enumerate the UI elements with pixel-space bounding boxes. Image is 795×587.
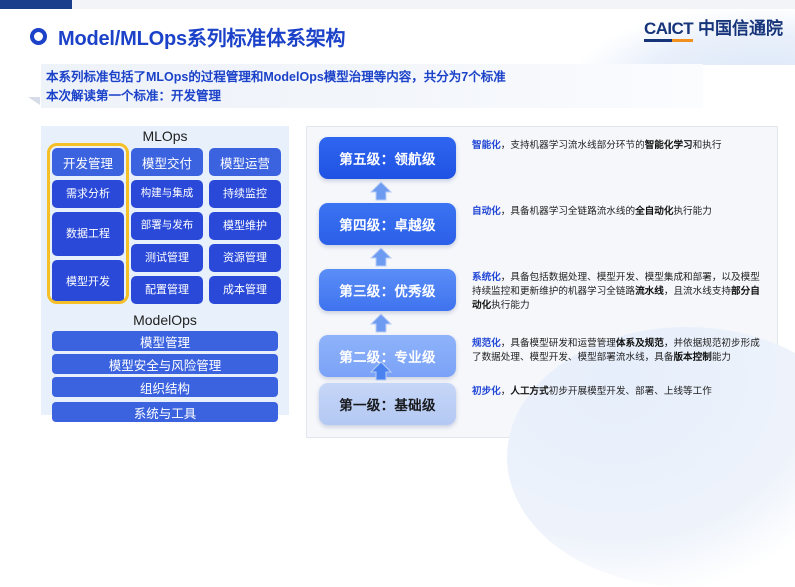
level-4-text-a: ，具备机器学习全链路流水线的 [501, 206, 635, 217]
subtitle-line-2: 本次解读第一个标准：开发管理 [46, 87, 696, 106]
level-2-text-c: 能力 [712, 352, 731, 363]
top-accent-bar [0, 0, 72, 9]
column-items-delivery: 构建与集成 部署与发布 测试管理 配置管理 [131, 180, 203, 304]
maturity-level-4-row: 第四级：卓越级 自动化，具备机器学习全链路流水线的全自动化执行能力 [319, 203, 767, 245]
level-1-description: 初步化，人工方式初步开展模型开发、部署、上线等工作 [472, 383, 767, 425]
item-resource-management[interactable]: 资源管理 [209, 244, 281, 272]
item-continuous-monitoring[interactable]: 持续监控 [209, 180, 281, 208]
arrow-up-icon-3-to-4 [370, 247, 392, 267]
caict-logo-chinese: 中国信通院 [698, 20, 783, 37]
level-5-description: 智能化，支持机器学习流水线部分环节的智能化学习和执行 [472, 137, 767, 179]
subtitle-line-1: 本系列标准包括了MLOps的过程管理和ModelOps模型治理等内容，共分为7个… [46, 68, 696, 87]
maturity-level-3-row: 第三级：优秀级 系统化，具备包括数据处理、模型开发、模型集成和部署，以及模型持续… [319, 269, 767, 313]
level-2-text-a: ，具备模型研发和运营管理 [501, 338, 616, 349]
column-header-development: 开发管理 [52, 148, 124, 176]
level-3-description: 系统化，具备包括数据处理、模型开发、模型集成和部署，以及模型持续监控和更新维护的… [472, 269, 767, 313]
underline-orange-segment [672, 39, 693, 42]
item-model-maintenance[interactable]: 模型维护 [209, 212, 281, 240]
item-cost-management[interactable]: 成本管理 [209, 276, 281, 304]
maturity-level-1-row: 第一级：基础级 初步化，人工方式初步开展模型开发、部署、上线等工作 [319, 383, 767, 425]
level-1-text-bold: 人工方式 [510, 386, 548, 397]
level-2-keyword: 规范化 [472, 338, 501, 349]
modelops-heading: ModelOps [41, 312, 289, 328]
item-deploy-release[interactable]: 部署与发布 [131, 212, 203, 240]
level-5-text-bold: 智能化学习 [645, 140, 693, 151]
item-config-management[interactable]: 配置管理 [131, 276, 203, 304]
mlops-architecture-panel: MLOps ModelOps 开发管理 需求分析 数据工程 模型开发 模型交付 … [41, 126, 289, 438]
level-1-text-a: ， [501, 386, 511, 397]
level-1-text-b: 初步开展模型开发、部署、上线等工作 [549, 386, 712, 397]
level-4-keyword: 自动化 [472, 206, 501, 217]
modelops-row-security-risk[interactable]: 模型安全与风险管理 [52, 354, 278, 374]
level-2-description: 规范化，具备模型研发和运营管理体系及规范，并依据规范初步形成了数据处理、模型开发… [472, 335, 767, 377]
arrow-up-icon-2-to-3 [370, 313, 392, 333]
subtitle-band-tail [28, 97, 40, 105]
caict-wordmark: CAICT [644, 20, 693, 42]
level-3-keyword: 系统化 [472, 272, 501, 283]
item-model-development[interactable]: 模型开发 [52, 260, 124, 304]
mlops-column-development[interactable]: 开发管理 需求分析 数据工程 模型开发 [52, 148, 124, 304]
level-5-box[interactable]: 第五级：领航级 [319, 137, 456, 179]
top-hairline [72, 0, 795, 9]
level-1-keyword: 初步化 [472, 386, 501, 397]
item-build-integration[interactable]: 构建与集成 [131, 180, 203, 208]
level-4-description: 自动化，具备机器学习全链路流水线的全自动化执行能力 [472, 203, 767, 245]
item-test-management[interactable]: 测试管理 [131, 244, 203, 272]
arrow-up-icon-1-to-2 [370, 361, 392, 381]
level-1-box[interactable]: 第一级：基础级 [319, 383, 456, 425]
maturity-levels-panel: 第五级：领航级 智能化，支持机器学习流水线部分环节的智能化学习和执行 第四级：卓… [306, 126, 778, 438]
level-2-text-bold: 体系及规范 [616, 338, 664, 349]
page-title-row: Model/MLOps系列标准体系架构 [30, 22, 345, 51]
column-items-development: 需求分析 数据工程 模型开发 [52, 180, 124, 304]
subtitle-text: 本系列标准包括了MLOps的过程管理和ModelOps模型治理等内容，共分为7个… [46, 68, 696, 107]
maturity-level-5-row: 第五级：领航级 智能化，支持机器学习流水线部分环节的智能化学习和执行 [319, 137, 767, 179]
column-header-operations: 模型运营 [209, 148, 281, 176]
column-header-delivery: 模型交付 [131, 148, 203, 176]
level-4-text-bold: 全自动化 [635, 206, 673, 217]
modelops-row-model-management[interactable]: 模型管理 [52, 331, 278, 351]
column-items-operations: 持续监控 模型维护 资源管理 成本管理 [209, 180, 281, 304]
mlops-column-operations[interactable]: 模型运营 持续监控 模型维护 资源管理 成本管理 [209, 148, 281, 304]
caict-logo-text: CAICT [644, 20, 693, 37]
level-5-text-a: ，支持机器学习流水线部分环节的 [501, 140, 645, 151]
level-5-text-b: 和执行 [693, 140, 722, 151]
level-2-text-bold2: 版本控制 [673, 352, 711, 363]
level-4-text-b: 执行能力 [673, 206, 711, 217]
caict-logo-underline [644, 39, 693, 42]
page-title: Model/MLOps系列标准体系架构 [58, 22, 345, 51]
level-3-text-b: ，且流水线支持 [664, 286, 731, 297]
arrow-up-icon-4-to-5 [370, 181, 392, 201]
mlops-heading: MLOps [41, 128, 289, 144]
level-3-box[interactable]: 第三级：优秀级 [319, 269, 456, 311]
item-data-engineering[interactable]: 数据工程 [52, 212, 124, 256]
underline-blue-segment [644, 39, 672, 42]
caict-logo: CAICT 中国信通院 [644, 20, 783, 42]
level-5-keyword: 智能化 [472, 140, 501, 151]
level-3-text-c: 执行能力 [491, 300, 529, 311]
modelops-row-org-structure[interactable]: 组织结构 [52, 377, 278, 397]
mlops-column-delivery[interactable]: 模型交付 构建与集成 部署与发布 测试管理 配置管理 [131, 148, 203, 304]
level-4-box[interactable]: 第四级：卓越级 [319, 203, 456, 245]
level-3-text-bold: 流水线 [635, 286, 664, 297]
modelops-row-systems-tools[interactable]: 系统与工具 [52, 402, 278, 422]
item-requirements-analysis[interactable]: 需求分析 [52, 180, 124, 208]
ring-icon [30, 28, 47, 45]
